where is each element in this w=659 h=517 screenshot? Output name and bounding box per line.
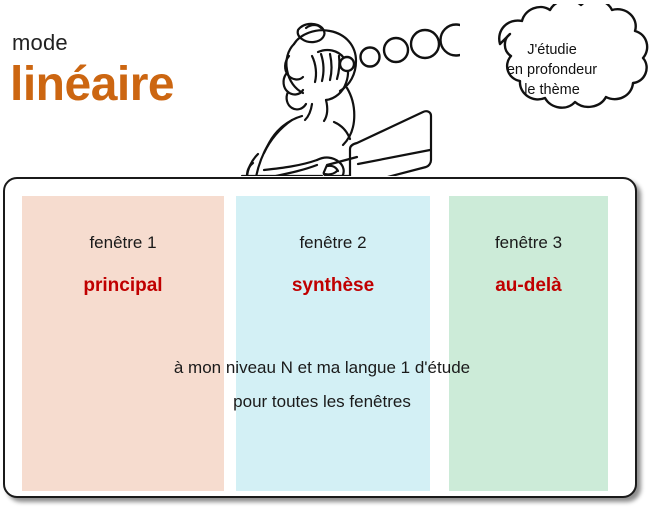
window-panel-1[interactable]: fenêtre 1 principal [22,196,224,491]
mode-label: mode [12,30,68,56]
window-name-1: principal [22,274,224,298]
window-panel-2[interactable]: fenêtre 2 synthèse [236,196,430,491]
window-label-1: fenêtre 1 [22,232,224,254]
header-area: mode linéaire [0,0,659,177]
window-panel-3[interactable]: fenêtre 3 au-delà [449,196,608,491]
window-label-3: fenêtre 3 [449,232,608,254]
mode-title: linéaire [10,57,174,113]
window-label-2: fenêtre 2 [236,232,430,254]
thought-trail-circles-icon [330,18,460,78]
window-name-2: synthèse [236,274,430,298]
thought-bubble: J'étudie en profondeur le thème [448,4,656,132]
windows-card: fenêtre 1 principal fenêtre 2 synthèse f… [3,177,637,498]
window-name-3: au-delà [449,274,608,298]
